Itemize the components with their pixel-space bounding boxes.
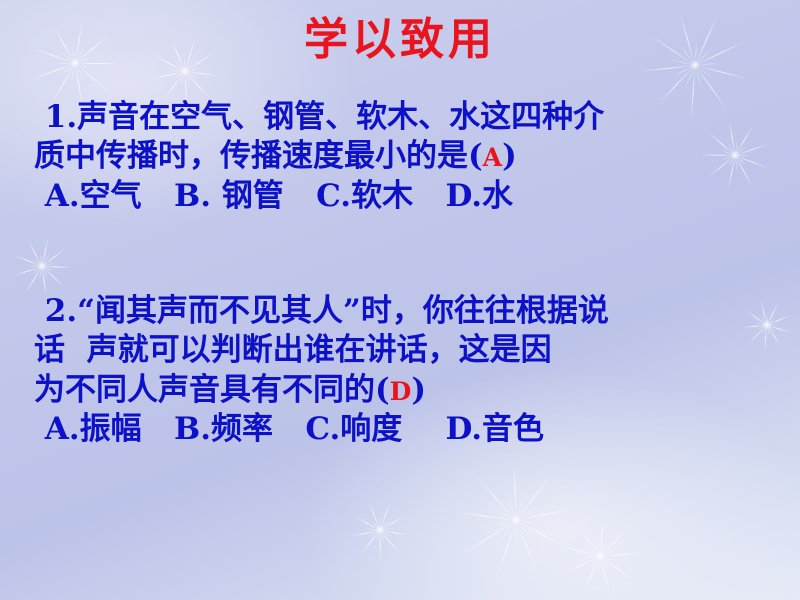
- question-2: 2.“闻其声而不见其人”时，你往往根据说 话 声就可以判断出谁在讲话，这是因 为…: [34, 292, 774, 449]
- question-2-line-2: 话 声就可以判断出谁在讲话，这是因: [34, 331, 774, 370]
- slide-canvas: 学以致用 1.声音在空气、钢管、软木、水这四种介 质中传播时，传播速度最小的是(…: [0, 0, 800, 600]
- slide-title: 学以致用: [0, 12, 800, 67]
- question-2-line-1: 2.“闻其声而不见其人”时，你往往根据说: [34, 292, 774, 331]
- sparkle-icon: [560, 516, 640, 596]
- question-1-options: A.空气 B. 钢管 C.软木 D.水: [34, 177, 774, 216]
- sparkle-icon: [456, 460, 576, 580]
- sparkle-icon: [12, 236, 72, 296]
- question-1-stem: 质中传播时，传播速度最小的是(: [34, 138, 483, 174]
- sparkle-icon: [350, 500, 410, 560]
- question-2-answer: D: [390, 377, 412, 406]
- question-2-line-3: 为不同人声音具有不同的(D): [34, 371, 774, 410]
- question-2-paren-close: ): [411, 372, 426, 408]
- question-1-answer: A: [483, 143, 502, 172]
- question-1-paren-close: ): [502, 138, 517, 174]
- question-2-options: A.振幅 B.频率 C.响度 D.音色: [34, 410, 774, 449]
- question-1: 1.声音在空气、钢管、软木、水这四种介 质中传播时，传播速度最小的是(A) A.…: [34, 98, 774, 216]
- question-1-line-1: 1.声音在空气、钢管、软木、水这四种介: [34, 98, 774, 137]
- question-2-stem: 为不同人声音具有不同的(: [34, 372, 390, 408]
- question-1-line-2: 质中传播时，传播速度最小的是(A): [34, 137, 774, 176]
